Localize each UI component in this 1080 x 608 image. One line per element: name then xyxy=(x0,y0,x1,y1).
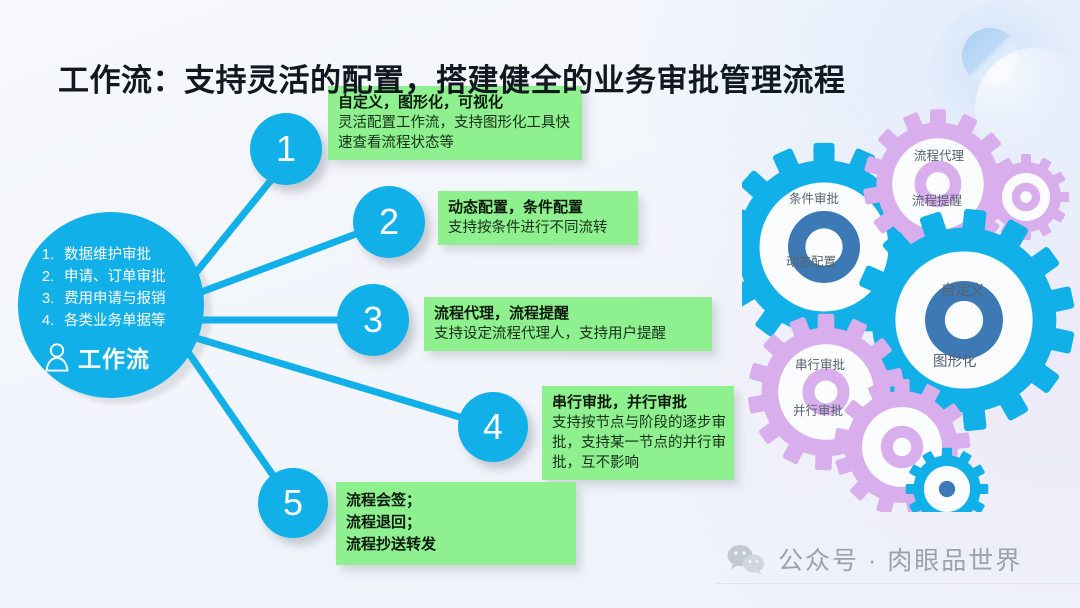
callout-title: 动态配置，条件配置 xyxy=(448,197,628,218)
node-number: 2 xyxy=(379,201,399,243)
node-circle-2[interactable]: 2 xyxy=(353,186,425,258)
hub-item-label: 费用申请与报销 xyxy=(64,288,166,310)
callout-3[interactable]: 流程代理，流程提醒 支持设定流程代理人，支持用户提醒 xyxy=(424,297,712,351)
hub-item-number: 2. xyxy=(42,266,64,288)
callout-line-2: 流程退回； xyxy=(346,512,566,534)
page-title: 工作流：支持灵活的配置，搭建健全的业务审批管理流程 xyxy=(58,55,846,100)
node-number: 4 xyxy=(483,406,503,448)
hub-circle[interactable]: 1. 数据维护审批 2. 申请、订单审批 3. 费用申请与报销 4. 各类业务单… xyxy=(18,212,204,398)
callout-body: 支持按条件进行不同流转 xyxy=(448,218,628,238)
callout-2[interactable]: 动态配置，条件配置 支持按条件进行不同流转 xyxy=(438,191,638,245)
callout-body: 灵活配置工作流，支持图形化工具快速查看流程状态等 xyxy=(338,113,570,153)
slide-canvas: 工作流：支持灵活的配置，搭建健全的业务审批管理流程 1. 数据维护审批 2. 申… xyxy=(0,0,1080,608)
person-icon xyxy=(44,342,70,372)
callout-title: 串行审批，并行审批 xyxy=(552,392,724,413)
callout-body: 支持按节点与阶段的逐步审批，支持某一节点的并行审批，互不影响 xyxy=(552,413,728,473)
callout-line-3: 流程抄送转发 xyxy=(346,534,566,556)
hub-list-item: 1. 数据维护审批 xyxy=(42,244,166,266)
hub-item-number: 1. xyxy=(42,244,64,266)
watermark-text: 公众号 · 肉眼品世界 xyxy=(778,541,1022,577)
callout-4[interactable]: 串行审批，并行审批 支持按节点与阶段的逐步审批，支持某一节点的并行审批，互不影响 xyxy=(542,386,734,480)
hub-item-number: 3. xyxy=(42,288,64,310)
node-circle-5[interactable]: 5 xyxy=(258,468,328,538)
callout-body: 支持设定流程代理人，支持用户提醒 xyxy=(434,324,702,344)
hub-item-label: 数据维护审批 xyxy=(64,244,151,266)
node-number: 1 xyxy=(276,128,296,170)
hub-item-label: 各类业务单据等 xyxy=(64,310,166,332)
node-number: 5 xyxy=(283,482,303,524)
hub-item-number: 4. xyxy=(42,310,64,332)
callout-title: 流程代理，流程提醒 xyxy=(434,303,702,324)
hub-list-item: 3. 费用申请与报销 xyxy=(42,288,166,310)
hub-item-label: 申请、订单审批 xyxy=(64,266,166,288)
node-circle-1[interactable]: 1 xyxy=(250,113,322,185)
hub-label: 工作流 xyxy=(78,340,150,374)
callout-line-1: 流程会签； xyxy=(346,490,566,512)
hub-list-item: 4. 各类业务单据等 xyxy=(42,310,166,332)
node-circle-3[interactable]: 3 xyxy=(337,284,409,356)
connector-line-4 xyxy=(196,338,493,427)
node-number: 3 xyxy=(363,299,383,341)
node-circle-4[interactable]: 4 xyxy=(458,392,528,462)
callout-5[interactable]: 流程会签； 流程退回； 流程抄送转发 xyxy=(336,482,576,565)
gear-illustration xyxy=(742,92,1080,512)
hub-item-list: 1. 数据维护审批 2. 申请、订单审批 3. 费用申请与报销 4. 各类业务单… xyxy=(42,244,166,332)
hub-footer: 工作流 xyxy=(44,340,150,374)
hub-list-item: 2. 申请、订单审批 xyxy=(42,266,166,288)
watermark: 公众号 · 肉眼品世界 xyxy=(726,541,1022,577)
wechat-icon xyxy=(726,543,766,575)
